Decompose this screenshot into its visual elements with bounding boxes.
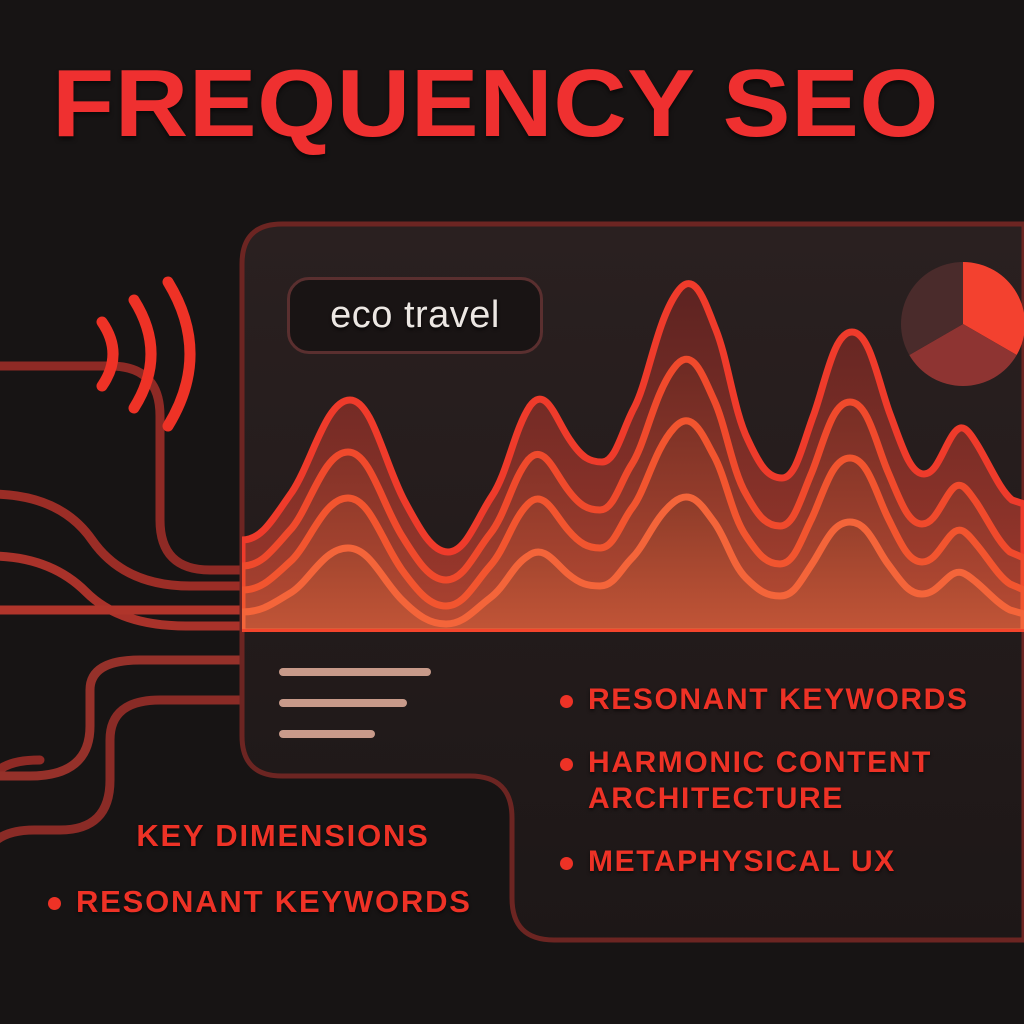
search-input-value: eco travel xyxy=(330,294,500,337)
list-item-label: RESONANT KEYWORDS xyxy=(588,682,969,719)
list-item[interactable]: RESONANT KEYWORDS xyxy=(48,884,518,920)
list-item-label: HARMONIC CONTENT ARCHITECTURE xyxy=(588,745,1020,818)
bullet-dot-icon xyxy=(560,695,573,708)
connector-lines xyxy=(0,366,246,1024)
placeholder-line xyxy=(279,668,431,676)
poster-canvas: FREQUENCY SEO eco travel RESONANT KEYWOR… xyxy=(0,0,1024,1024)
placeholder-line xyxy=(279,699,407,707)
pie-chart-icon xyxy=(901,262,1024,386)
list-item[interactable]: METAPHYSICAL UX xyxy=(560,844,1020,881)
list-item-label: METAPHYSICAL UX xyxy=(588,844,896,881)
page-title: FREQUENCY SEO xyxy=(52,56,939,152)
bullet-dot-icon xyxy=(560,758,573,771)
search-input[interactable]: eco travel xyxy=(287,277,543,354)
right-bullet-list: RESONANT KEYWORDS HARMONIC CONTENT ARCHI… xyxy=(560,682,1020,906)
list-item[interactable]: HARMONIC CONTENT ARCHITECTURE xyxy=(560,745,1020,818)
bullet-dot-icon xyxy=(48,897,61,910)
list-item[interactable]: RESONANT KEYWORDS xyxy=(560,682,1020,719)
left-text-block: KEY DIMENSIONS RESONANT KEYWORDS xyxy=(48,818,518,920)
left-block-heading: KEY DIMENSIONS xyxy=(48,818,518,854)
bullet-dot-icon xyxy=(560,857,573,870)
wifi-signal-icon xyxy=(102,282,190,426)
placeholder-line xyxy=(279,730,375,738)
list-item-label: RESONANT KEYWORDS xyxy=(76,884,472,920)
